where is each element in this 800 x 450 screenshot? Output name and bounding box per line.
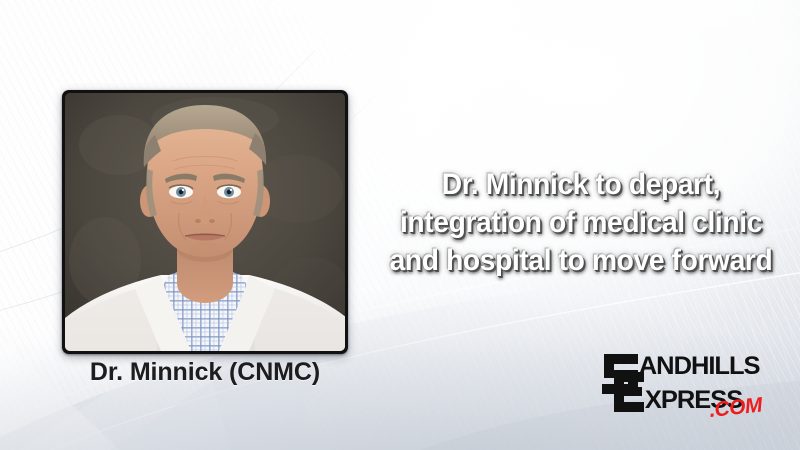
headline: Dr. Minnick to depart, integration of me… (385, 166, 778, 280)
sandhills-express-logo[interactable]: ANDHILLS XPRESS .COM (598, 346, 788, 418)
logo-artwork: ANDHILLS XPRESS .COM (598, 346, 788, 418)
news-header-graphic: Dr. Minnick (CNMC) Dr. Minnick to depart… (0, 0, 800, 450)
headline-line-1: Dr. Minnick to depart, (385, 166, 778, 204)
logo-word-top: ANDHILLS (639, 352, 760, 380)
headline-line-3: and hospital to move forward (385, 242, 778, 280)
headline-line-2: integration of medical clinic (385, 204, 778, 242)
portrait-illustration (65, 93, 345, 351)
photo-caption: Dr. Minnick (CNMC) (62, 358, 348, 387)
portrait-photo (65, 93, 345, 351)
portrait-photo-frame (62, 90, 348, 354)
